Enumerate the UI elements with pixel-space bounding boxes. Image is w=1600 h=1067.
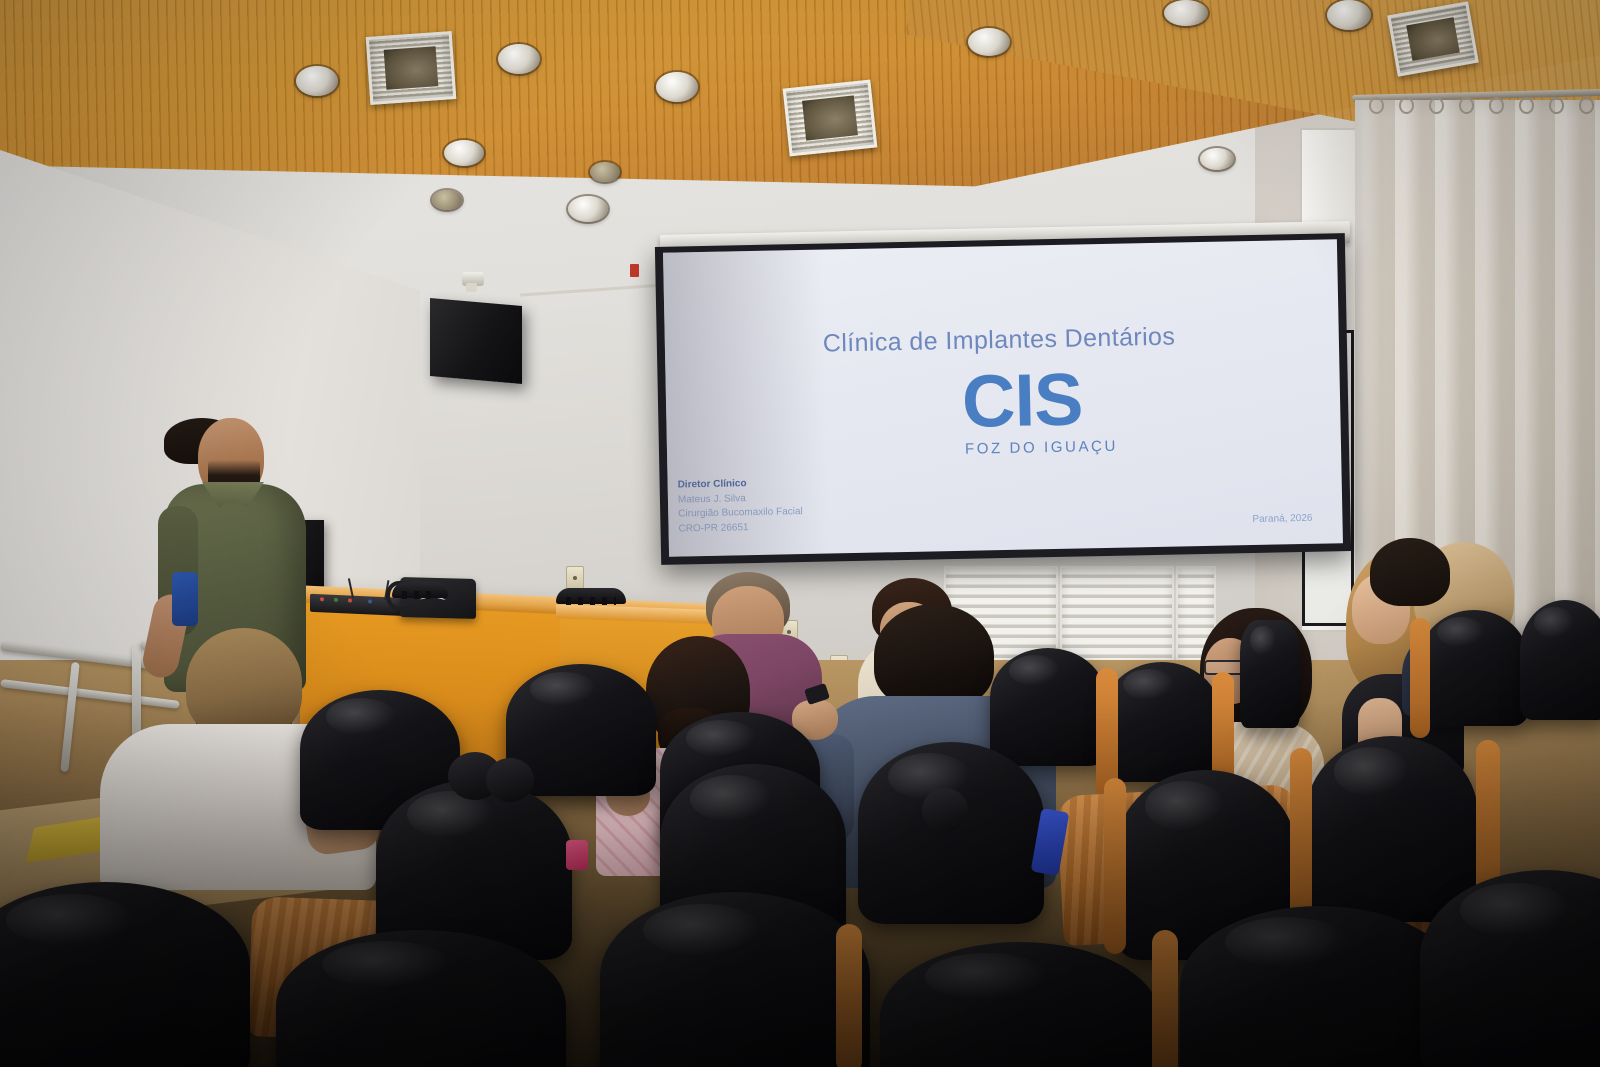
chair-seat-edge xyxy=(1152,930,1178,1067)
downlight-icon xyxy=(498,44,540,74)
auditorium-chair[interactable] xyxy=(0,882,250,1067)
downlight-icon xyxy=(432,190,462,210)
ceiling-vent-icon xyxy=(366,31,457,105)
projection-screen-surface: Clínica de Implantes Dentários CIS FOZ D… xyxy=(663,239,1343,556)
credit-registration: CRO-PR 26651 xyxy=(678,520,803,537)
chair-backrest xyxy=(392,582,448,598)
downlight-icon xyxy=(590,162,620,182)
auditorium-chair[interactable] xyxy=(1420,610,1528,726)
auditorium-photo: Clínica de Implantes Dentários CIS FOZ D… xyxy=(0,0,1600,1067)
chair-headrest xyxy=(922,788,968,832)
attendee-hair xyxy=(1370,538,1450,606)
chair-seat-edge xyxy=(1104,778,1126,954)
slide-place-year: Paraná, 2026 xyxy=(1252,513,1312,525)
projection-screen: Clínica de Implantes Dentários CIS FOZ D… xyxy=(655,233,1351,565)
presenter-bottle xyxy=(172,572,198,626)
chair-seat-edge xyxy=(1290,748,1312,920)
cis-logo-subtitle: FOZ DO IGUAÇU xyxy=(965,438,1118,458)
pink-object xyxy=(566,840,588,870)
fire-alarm-panel-icon xyxy=(630,264,639,277)
ceiling-vent-icon xyxy=(783,80,878,157)
security-camera-icon xyxy=(462,272,484,286)
chair-seat-edge xyxy=(836,924,862,1067)
downlight-icon xyxy=(296,66,338,96)
auditorium-chair[interactable] xyxy=(990,648,1106,766)
downlight-icon xyxy=(1200,148,1234,170)
downlight-icon xyxy=(1164,0,1208,26)
chair-headrest xyxy=(486,758,534,802)
auditorium-chair[interactable] xyxy=(1306,736,1478,922)
slide-heading: Clínica de Implantes Dentários xyxy=(823,319,1335,358)
chair-backrest xyxy=(556,588,626,604)
presentation-slide: Clínica de Implantes Dentários CIS FOZ D… xyxy=(811,258,1328,544)
auditorium-chair[interactable] xyxy=(1240,620,1300,728)
slide-credit-block: Diretor Clínico Mateus J. Silva Cirurgiã… xyxy=(678,476,804,536)
attendee-hair xyxy=(874,604,994,708)
auditorium-chair[interactable] xyxy=(600,892,870,1067)
auditorium-chair[interactable] xyxy=(1180,906,1460,1067)
downlight-icon xyxy=(968,28,1010,56)
wall-speaker-icon xyxy=(430,298,522,384)
auditorium-chair[interactable] xyxy=(858,742,1044,924)
downlight-icon xyxy=(656,72,698,102)
cis-logo: CIS xyxy=(961,362,1083,438)
power-outlet-icon xyxy=(566,566,584,589)
chair-seat-edge xyxy=(1410,618,1430,738)
auditorium-chair[interactable] xyxy=(1520,600,1600,720)
auditorium-chair[interactable] xyxy=(1104,662,1220,782)
downlight-icon xyxy=(568,196,608,222)
credit-specialty: Cirurgião Bucomaxilo Facial xyxy=(678,505,803,522)
downlight-icon xyxy=(1327,0,1371,30)
attendee-hair xyxy=(186,628,302,738)
downlight-icon xyxy=(444,140,484,166)
